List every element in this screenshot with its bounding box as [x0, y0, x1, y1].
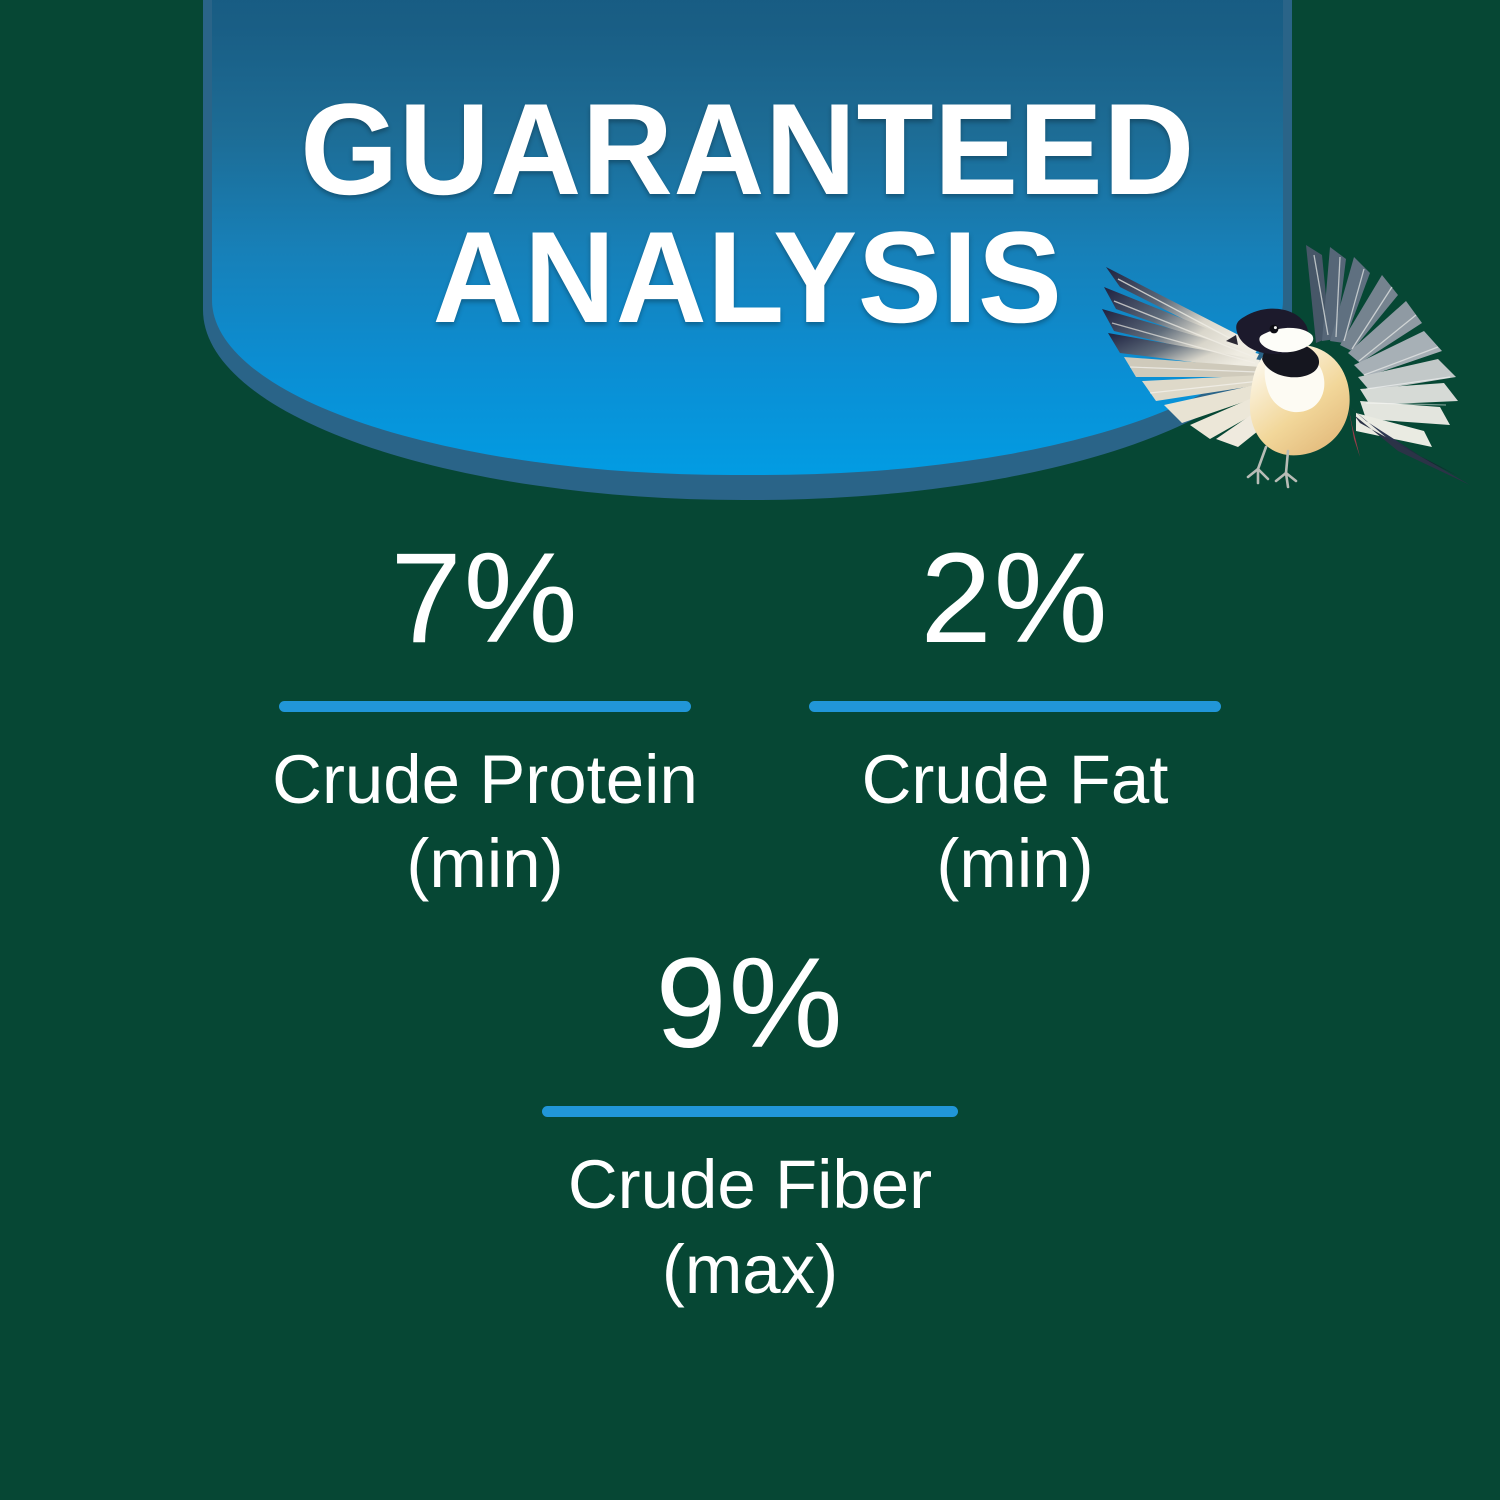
stat-label-text-crude-fiber: Crude Fiber — [568, 1146, 932, 1223]
stat-label-text-crude-fat: Crude Fat — [862, 741, 1169, 818]
stat-qualifier-crude-fiber: (max) — [485, 1228, 1015, 1312]
guaranteed-analysis-panel: GUARANTEED ANALYSIS — [0, 0, 1500, 1500]
stat-divider-crude-fat — [809, 701, 1221, 712]
page-title-line-2: ANALYSIS — [219, 218, 1275, 338]
stat-crude-fiber: 9% Crude Fiber (max) — [485, 940, 1015, 1311]
nutrition-stats: 7% Crude Protein (min) 2% Crude Fat (min… — [0, 535, 1500, 1312]
stat-divider-crude-protein — [279, 701, 691, 712]
stats-row-2: 9% Crude Fiber (max) — [0, 940, 1500, 1311]
stat-divider-crude-fiber — [542, 1106, 958, 1117]
header-banner: GUARANTEED ANALYSIS — [203, 0, 1292, 500]
stat-label-text-crude-protein: Crude Protein — [272, 741, 698, 818]
stat-crude-fat: 2% Crude Fat (min) — [750, 535, 1280, 906]
stat-label-crude-protein: Crude Protein (min) — [220, 738, 750, 906]
page-title-line-1: GUARANTEED — [219, 90, 1275, 210]
page-title: GUARANTEED ANALYSIS — [203, 90, 1292, 337]
stat-label-crude-fat: Crude Fat (min) — [750, 738, 1280, 906]
stat-label-crude-fiber: Crude Fiber (max) — [485, 1143, 1015, 1311]
stat-value-crude-fiber: 9% — [485, 940, 1015, 1068]
stat-value-crude-fat: 2% — [750, 535, 1280, 663]
stat-qualifier-crude-protein: (min) — [220, 822, 750, 906]
stats-row-1: 7% Crude Protein (min) 2% Crude Fat (min… — [0, 535, 1500, 906]
stat-value-crude-protein: 7% — [220, 535, 750, 663]
stat-qualifier-crude-fat: (min) — [750, 822, 1280, 906]
stat-crude-protein: 7% Crude Protein (min) — [220, 535, 750, 906]
